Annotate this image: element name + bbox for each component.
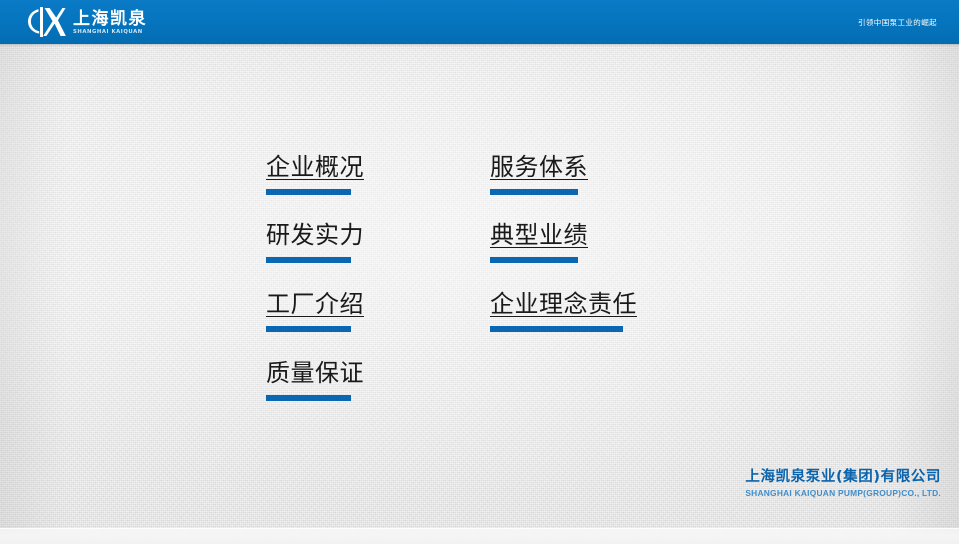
menu-item-label: 典型业绩 [490, 220, 588, 250]
footer-company-name-en: SHANGHAI KAIQUAN PUMP(GROUP)CO., LTD. [745, 487, 941, 499]
brand-logo[interactable]: 上海凯泉 SHANGHAI KAIQUAN [24, 6, 147, 38]
menu-item-label: 服务体系 [490, 152, 588, 182]
footer-company-name-cn: 上海凯泉泵业(集团)有限公司 [745, 468, 941, 486]
menu-item-label: 工厂介绍 [266, 289, 364, 319]
menu-item-accent-bar [266, 326, 351, 332]
menu-item-accent-bar [266, 189, 351, 195]
header-shadow [0, 44, 959, 47]
menu-item-accent-bar [490, 257, 578, 263]
menu-item-label: 企业概况 [266, 152, 364, 182]
menu-item-corporate-philosophy-responsibility[interactable]: 企业理念责任 [490, 289, 637, 332]
menu-list: 企业概况 研发实力 工厂介绍 质量保证 服务体系 典型业绩 企业理念责任 [0, 0, 959, 544]
menu-item-typical-achievements[interactable]: 典型业绩 [490, 220, 588, 263]
presentation-slide: 上海凯泉 SHANGHAI KAIQUAN 引领中国泵工业的崛起 企业概况 研发… [0, 0, 959, 544]
menu-item-accent-bar [490, 326, 623, 332]
menu-item-quality-assurance[interactable]: 质量保证 [266, 358, 364, 401]
menu-item-label: 研发实力 [266, 220, 364, 250]
brand-text: 上海凯泉 SHANGHAI KAIQUAN [73, 8, 147, 36]
brand-name-en: SHANGHAI KAIQUAN [73, 29, 148, 36]
header-bar: 上海凯泉 SHANGHAI KAIQUAN 引领中国泵工业的崛起 [0, 0, 959, 44]
header-slogan: 引领中国泵工业的崛起 [858, 0, 937, 44]
menu-item-label: 企业理念责任 [490, 289, 637, 319]
menu-item-label: 质量保证 [266, 358, 364, 388]
footer-company: 上海凯泉泵业(集团)有限公司 SHANGHAI KAIQUAN PUMP(GRO… [745, 468, 941, 499]
menu-item-accent-bar [266, 257, 351, 263]
menu-item-company-overview[interactable]: 企业概况 [266, 152, 364, 195]
brand-name-cn: 上海凯泉 [73, 10, 147, 29]
menu-item-service-system[interactable]: 服务体系 [490, 152, 588, 195]
menu-item-accent-bar [266, 395, 351, 401]
kaiquan-k-logo-icon [24, 6, 66, 38]
menu-item-factory-introduction[interactable]: 工厂介绍 [266, 289, 364, 332]
menu-item-rnd-strength[interactable]: 研发实力 [266, 220, 364, 263]
menu-item-accent-bar [490, 189, 578, 195]
